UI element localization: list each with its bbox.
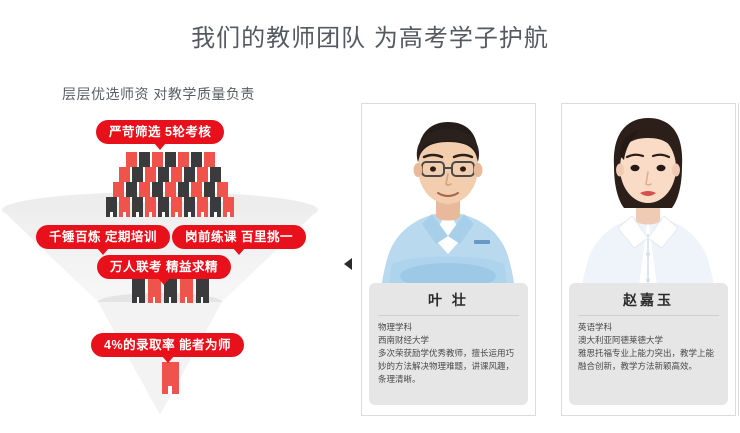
crowd-row bbox=[0, 197, 340, 217]
page-title: 我们的教师团队 为高考学子护航 bbox=[0, 18, 740, 53]
teacher-info-box: 叶 壮 物理学科 西南财经大学 多次荣获励学优秀教师，擅长运用巧妙的方法解决物理… bbox=[369, 283, 528, 405]
teacher-name: 叶 壮 bbox=[378, 290, 519, 316]
person-icon bbox=[119, 197, 130, 217]
teacher-card[interactable]: 叶 壮 物理学科 西南财经大学 多次荣获励学优秀教师，擅长运用巧妙的方法解决物理… bbox=[361, 103, 536, 416]
funnel-pill-4[interactable]: 万人联考 精益求精 bbox=[97, 255, 231, 279]
teacher-university: 西南财经大学 bbox=[378, 334, 519, 347]
person-icon bbox=[106, 197, 117, 217]
teacher-card[interactable]: 赵嘉玉 英语学科 澳大利亚阿德莱德大学 雅思托福专业上能力突出，教学上能融合创新… bbox=[561, 103, 736, 416]
funnel-tip-person bbox=[0, 362, 340, 394]
person-icon bbox=[223, 197, 234, 217]
person-icon bbox=[158, 197, 169, 217]
teacher-subject: 英语学科 bbox=[578, 321, 719, 334]
teacher-description: 多次荣获励学优秀教师，擅长运用巧妙的方法解决物理难题，讲课风趣，条理清晰。 bbox=[378, 347, 519, 386]
person-icon bbox=[145, 197, 156, 217]
person-icon bbox=[132, 279, 145, 303]
teacher-university: 澳大利亚阿德莱德大学 bbox=[578, 334, 719, 347]
funnel-pill-2[interactable]: 千锤百炼 定期培训 bbox=[36, 225, 170, 249]
person-icon bbox=[180, 279, 193, 303]
funnel-mid-row bbox=[0, 279, 340, 303]
carousel-prev-arrow-icon[interactable] bbox=[344, 258, 352, 270]
funnel-pill-1[interactable]: 严苛筛选 5轮考核 bbox=[96, 120, 224, 144]
person-icon bbox=[197, 197, 208, 217]
teacher-photo bbox=[562, 104, 735, 309]
teacher-info-box: 赵嘉玉 英语学科 澳大利亚阿德莱德大学 雅思托福专业上能力突出，教学上能融合创新… bbox=[569, 283, 728, 405]
funnel-pill-5[interactable]: 4%的录取率 能者为师 bbox=[91, 333, 244, 357]
teacher-name: 赵嘉玉 bbox=[578, 290, 719, 316]
person-icon bbox=[171, 197, 182, 217]
teacher-description: 雅思托福专业上能力突出，教学上能融合创新，教学方法新颖高效。 bbox=[578, 347, 719, 373]
person-icon bbox=[132, 197, 143, 217]
person-icon bbox=[184, 197, 195, 217]
teacher-photo bbox=[362, 104, 535, 309]
person-icon bbox=[210, 197, 221, 217]
funnel-pill-3[interactable]: 岗前练课 百里挑一 bbox=[172, 225, 306, 249]
teacher-subject: 物理学科 bbox=[378, 321, 519, 334]
person-icon bbox=[196, 279, 209, 303]
funnel-panel: 层层优选师资 对教学质量负责 bbox=[0, 70, 340, 425]
next-card-edge bbox=[738, 103, 739, 416]
person-icon bbox=[162, 362, 179, 394]
